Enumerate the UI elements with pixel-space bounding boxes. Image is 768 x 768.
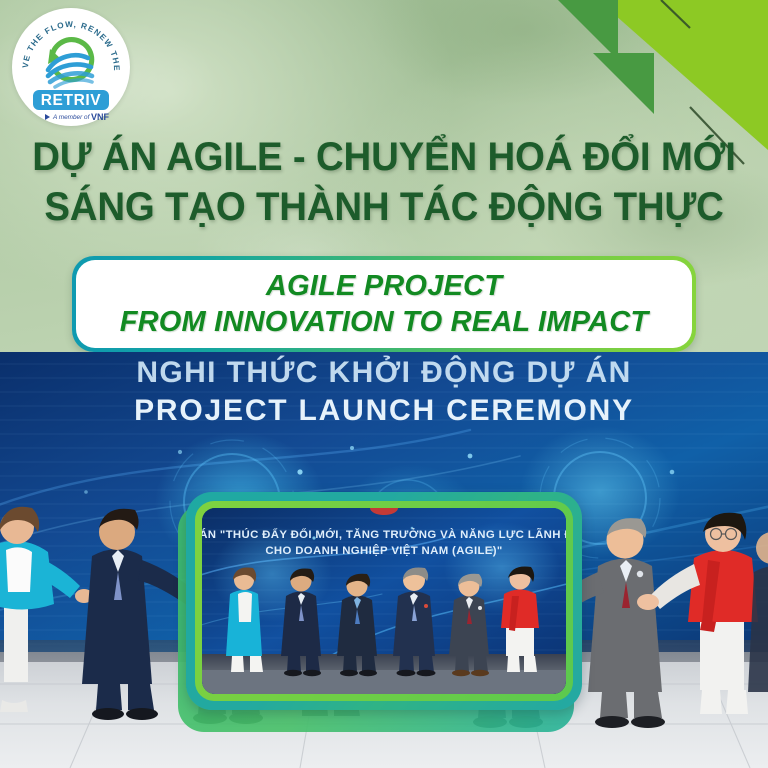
banner-line-1: AGILE PROJECT — [266, 268, 502, 304]
banner-line-2: FROM INNOVATION TO REAL IMPACT — [120, 304, 649, 340]
member-of-text: A member of — [52, 114, 91, 121]
inset-inner-border: DỰ ÁN "THÚC ĐẨY ĐỔI MỚI, TĂNG TRƯỞNG VÀ … — [195, 501, 573, 701]
retriv-logo[interactable]: RETRIEVE THE FLOW, RENEW THE GLOW RETRIV… — [12, 8, 130, 126]
poster-canvas: RETRIEVE THE FLOW, RENEW THE GLOW RETRIV… — [0, 0, 768, 768]
diagonal-line-upper — [661, 0, 690, 28]
inset-led-line-1: DỰ ÁN "THÚC ĐẨY ĐỔI MỚI, TĂNG TRƯỞNG VÀ … — [202, 528, 566, 541]
inset-led-line-2: CHO DOANH NGHIỆP VIỆT NAM (AGILE)" — [265, 544, 502, 557]
headline-line-2: SÁNG TẠO THÀNH TÁC ĐỘNG THỰC — [15, 182, 752, 232]
inset-photo-surface: DỰ ÁN "THÚC ĐẨY ĐỔI MỚI, TĂNG TRƯỞNG VÀ … — [202, 508, 566, 694]
english-title-banner: AGILE PROJECT FROM INNOVATION TO REAL IM… — [72, 256, 696, 352]
group-photo-inset[interactable]: DỰ ÁN "THÚC ĐẨY ĐỔI MỚI, TĂNG TRƯỞNG VÀ … — [186, 492, 582, 710]
dark-green-triangle-lower — [593, 53, 654, 114]
parent-brand-text: VNF — [91, 112, 110, 122]
dark-green-triangle-upper — [558, 0, 618, 60]
led-title-en: PROJECT LAUNCH CEREMONY — [134, 394, 634, 427]
english-title-banner-inner: AGILE PROJECT FROM INNOVATION TO REAL IM… — [76, 260, 692, 348]
page-title: DỰ ÁN AGILE - CHUYỂN HOÁ ĐỔI MỚI SÁNG TẠ… — [15, 132, 752, 232]
brand-text: RETRIV — [41, 92, 101, 109]
headline-line-1: DỰ ÁN AGILE - CHUYỂN HOÁ ĐỔI MỚI — [15, 132, 752, 182]
lime-triangle — [598, 0, 768, 150]
led-title-vi: NGHI THỨC KHỞI ĐỘNG DỰ ÁN — [136, 355, 631, 389]
